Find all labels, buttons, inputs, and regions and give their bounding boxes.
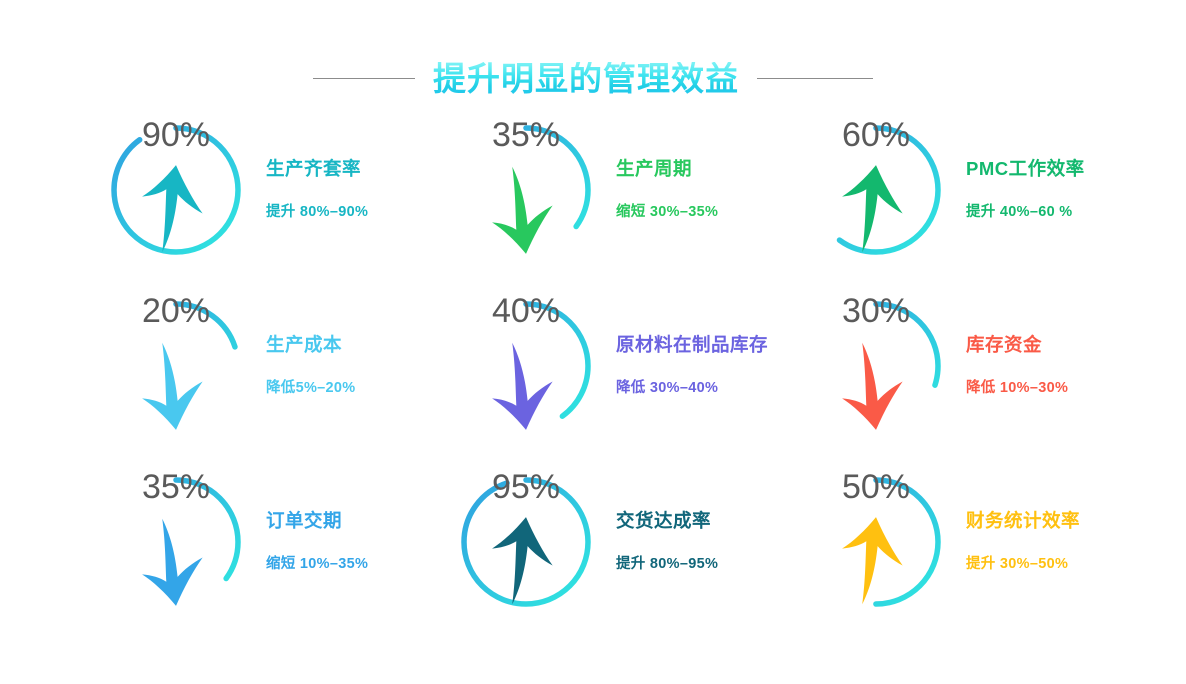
stat-title: 库存资金 xyxy=(966,336,1042,355)
stat-labels: 原材料在制品库存降低 30%–40% xyxy=(616,336,768,395)
stat-card: 35%生产周期缩短 30%–35% xyxy=(422,118,772,294)
stat-labels: 库存资金降低 10%–30% xyxy=(966,336,1068,395)
gauge-ring: 90% xyxy=(104,118,248,262)
stat-title: 订单交期 xyxy=(266,512,342,531)
gauge-arc xyxy=(114,128,238,252)
stat-card: 60%PMC工作效率提升 40%–60 % xyxy=(772,118,1122,294)
stat-subtitle: 降低5%–20% xyxy=(266,381,355,396)
stat-card: 20%生产成本降低5%–20% xyxy=(72,294,422,470)
gauge-arc xyxy=(814,128,938,252)
gauge-arc xyxy=(814,304,938,428)
stat-subtitle: 降低 30%–40% xyxy=(616,381,718,396)
stat-title: 生产周期 xyxy=(616,160,692,179)
stat-subtitle: 提升 80%–95% xyxy=(616,557,718,572)
page-header: 提升明显的管理效益 xyxy=(0,50,1186,106)
gauge-arc xyxy=(114,304,238,428)
stat-subtitle: 提升 80%–90% xyxy=(266,205,368,220)
gauge-arc xyxy=(464,128,588,252)
gauge-arc xyxy=(464,480,588,604)
stat-labels: 财务统计效率提升 30%–50% xyxy=(966,512,1080,571)
stat-card: 35%订单交期缩短 10%–35% xyxy=(72,470,422,646)
stat-subtitle: 降低 10%–30% xyxy=(966,381,1068,396)
stat-title: 财务统计效率 xyxy=(966,512,1080,531)
stat-labels: 生产周期缩短 30%–35% xyxy=(616,160,718,219)
stat-card: 40%原材料在制品库存降低 30%–40% xyxy=(422,294,772,470)
stat-subtitle: 缩短 30%–35% xyxy=(616,205,718,220)
stat-subtitle: 提升 40%–60 % xyxy=(966,205,1072,220)
page-title: 提升明显的管理效益 xyxy=(433,62,739,95)
stat-labels: PMC工作效率提升 40%–60 % xyxy=(966,160,1085,219)
stat-title: 生产齐套率 xyxy=(266,160,361,179)
stat-title: 原材料在制品库存 xyxy=(616,336,768,355)
gauge-ring: 30% xyxy=(804,294,948,438)
gauge-arc xyxy=(814,480,938,604)
title-rule-left xyxy=(313,78,415,79)
stat-card: 30%库存资金降低 10%–30% xyxy=(772,294,1122,470)
gauge-ring: 20% xyxy=(104,294,248,438)
stat-labels: 交货达成率提升 80%–95% xyxy=(616,512,718,571)
gauge-ring: 60% xyxy=(804,118,948,262)
gauge-ring: 40% xyxy=(454,294,598,438)
stat-subtitle: 提升 30%–50% xyxy=(966,557,1068,572)
gauge-arc xyxy=(464,304,588,428)
gauge-ring: 35% xyxy=(104,470,248,614)
stat-subtitle: 缩短 10%–35% xyxy=(266,557,368,572)
gauge-ring: 50% xyxy=(804,470,948,614)
title-rule-right xyxy=(757,78,873,79)
stat-title: 交货达成率 xyxy=(616,512,711,531)
stat-labels: 生产齐套率提升 80%–90% xyxy=(266,160,368,219)
stat-labels: 订单交期缩短 10%–35% xyxy=(266,512,368,571)
gauge-ring: 95% xyxy=(454,470,598,614)
stats-grid: 90%生产齐套率提升 80%–90%35%生产周期缩短 30%–35%60%PM… xyxy=(72,118,1122,646)
stat-card: 90%生产齐套率提升 80%–90% xyxy=(72,118,422,294)
stat-card: 95%交货达成率提升 80%–95% xyxy=(422,470,772,646)
stat-title: PMC工作效率 xyxy=(966,160,1085,179)
gauge-arc xyxy=(114,480,238,604)
stat-title: 生产成本 xyxy=(266,336,342,355)
stat-card: 50%财务统计效率提升 30%–50% xyxy=(772,470,1122,646)
gauge-ring: 35% xyxy=(454,118,598,262)
stat-labels: 生产成本降低5%–20% xyxy=(266,336,355,395)
